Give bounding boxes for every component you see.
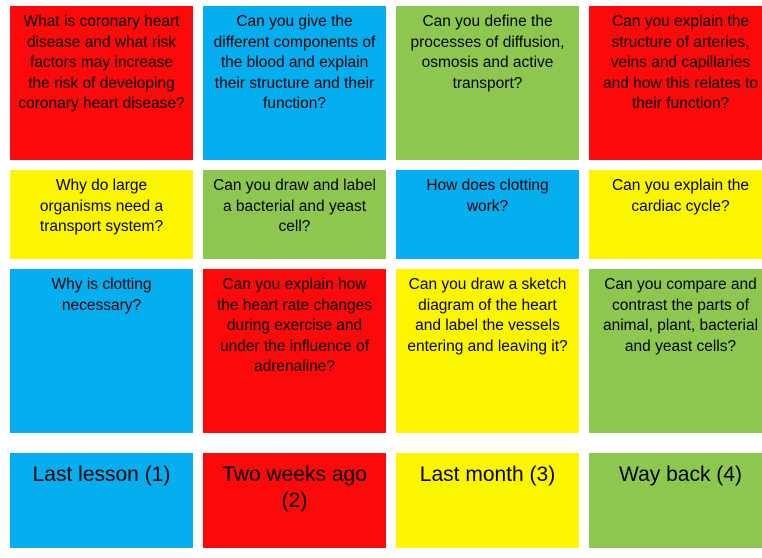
question-cell[interactable]: Can you explain the structure of arterie… [589, 6, 762, 160]
question-cell[interactable]: Why do large organisms need a transport … [10, 170, 193, 259]
legend-item-two-weeks-ago[interactable]: Two weeks ago (2) [203, 453, 386, 548]
question-text: How does clotting work? [404, 176, 571, 217]
legend-row: Last lesson (1) Two weeks ago (2) Last m… [10, 453, 752, 548]
question-cell[interactable]: Can you explain how the heart rate chang… [203, 269, 386, 433]
question-cell[interactable]: Can you define the processes of diffusio… [396, 6, 579, 160]
question-grid: What is coronary heart disease and what … [10, 6, 752, 433]
question-cell[interactable]: Why is clotting necessary? [10, 269, 193, 433]
question-text: Why do large organisms need a transport … [18, 176, 185, 238]
question-text: Can you draw a sketch diagram of the hea… [404, 275, 571, 357]
question-text: Why is clotting necessary? [18, 275, 185, 316]
question-cell[interactable]: What is coronary heart disease and what … [10, 6, 193, 160]
question-text: Can you explain the structure of arterie… [597, 12, 762, 115]
question-cell[interactable]: Can you explain the cardiac cycle? [589, 170, 762, 259]
legend-item-way-back[interactable]: Way back (4) [589, 453, 762, 548]
question-cell[interactable]: Can you draw and label a bacterial and y… [203, 170, 386, 259]
question-text: Can you compare and contrast the parts o… [597, 275, 762, 357]
question-text: What is coronary heart disease and what … [18, 12, 185, 115]
legend-label: Way back (4) [597, 462, 762, 488]
legend-label: Last lesson (1) [18, 462, 185, 488]
legend-item-last-lesson[interactable]: Last lesson (1) [10, 453, 193, 548]
question-cell[interactable]: Can you compare and contrast the parts o… [589, 269, 762, 433]
question-text: Can you explain how the heart rate chang… [211, 275, 378, 378]
question-text: Can you define the processes of diffusio… [404, 12, 571, 94]
legend-label: Last month (3) [404, 462, 571, 488]
question-cell[interactable]: Can you give the different components of… [203, 6, 386, 160]
question-grid-board: What is coronary heart disease and what … [0, 0, 762, 558]
question-text: Can you give the different components of… [211, 12, 378, 115]
question-cell[interactable]: Can you draw a sketch diagram of the hea… [396, 269, 579, 433]
legend-label: Two weeks ago (2) [211, 462, 378, 515]
question-cell[interactable]: How does clotting work? [396, 170, 579, 259]
question-text: Can you explain the cardiac cycle? [597, 176, 762, 217]
question-text: Can you draw and label a bacterial and y… [211, 176, 378, 238]
legend-item-last-month[interactable]: Last month (3) [396, 453, 579, 548]
